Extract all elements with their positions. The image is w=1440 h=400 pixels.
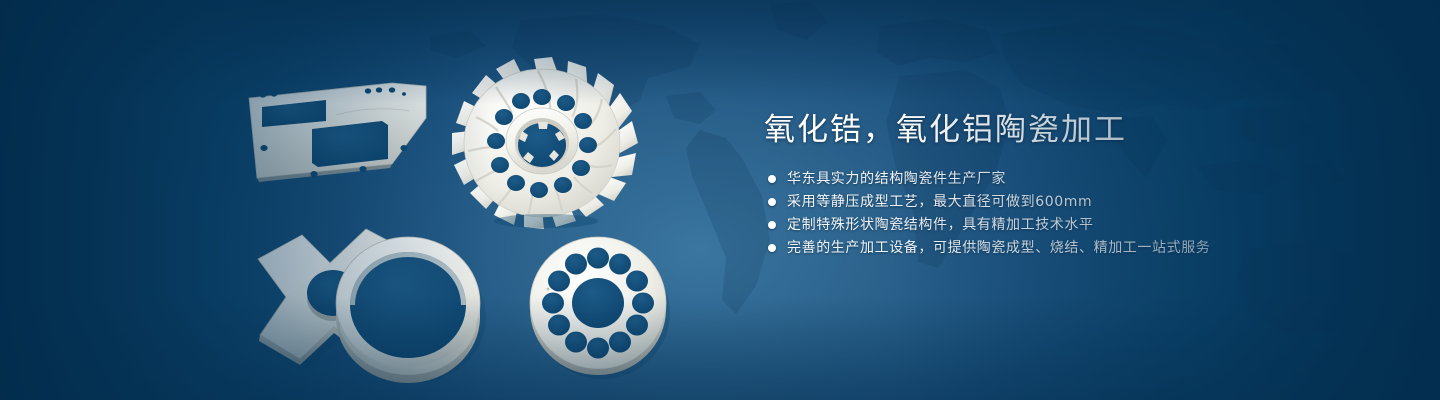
background-vignette	[0, 0, 1440, 400]
promo-banner: 氧化锆，氧化铝陶瓷加工 华东具实力的结构陶瓷件生产厂家 采用等静压成型工艺，最大…	[0, 0, 1440, 400]
